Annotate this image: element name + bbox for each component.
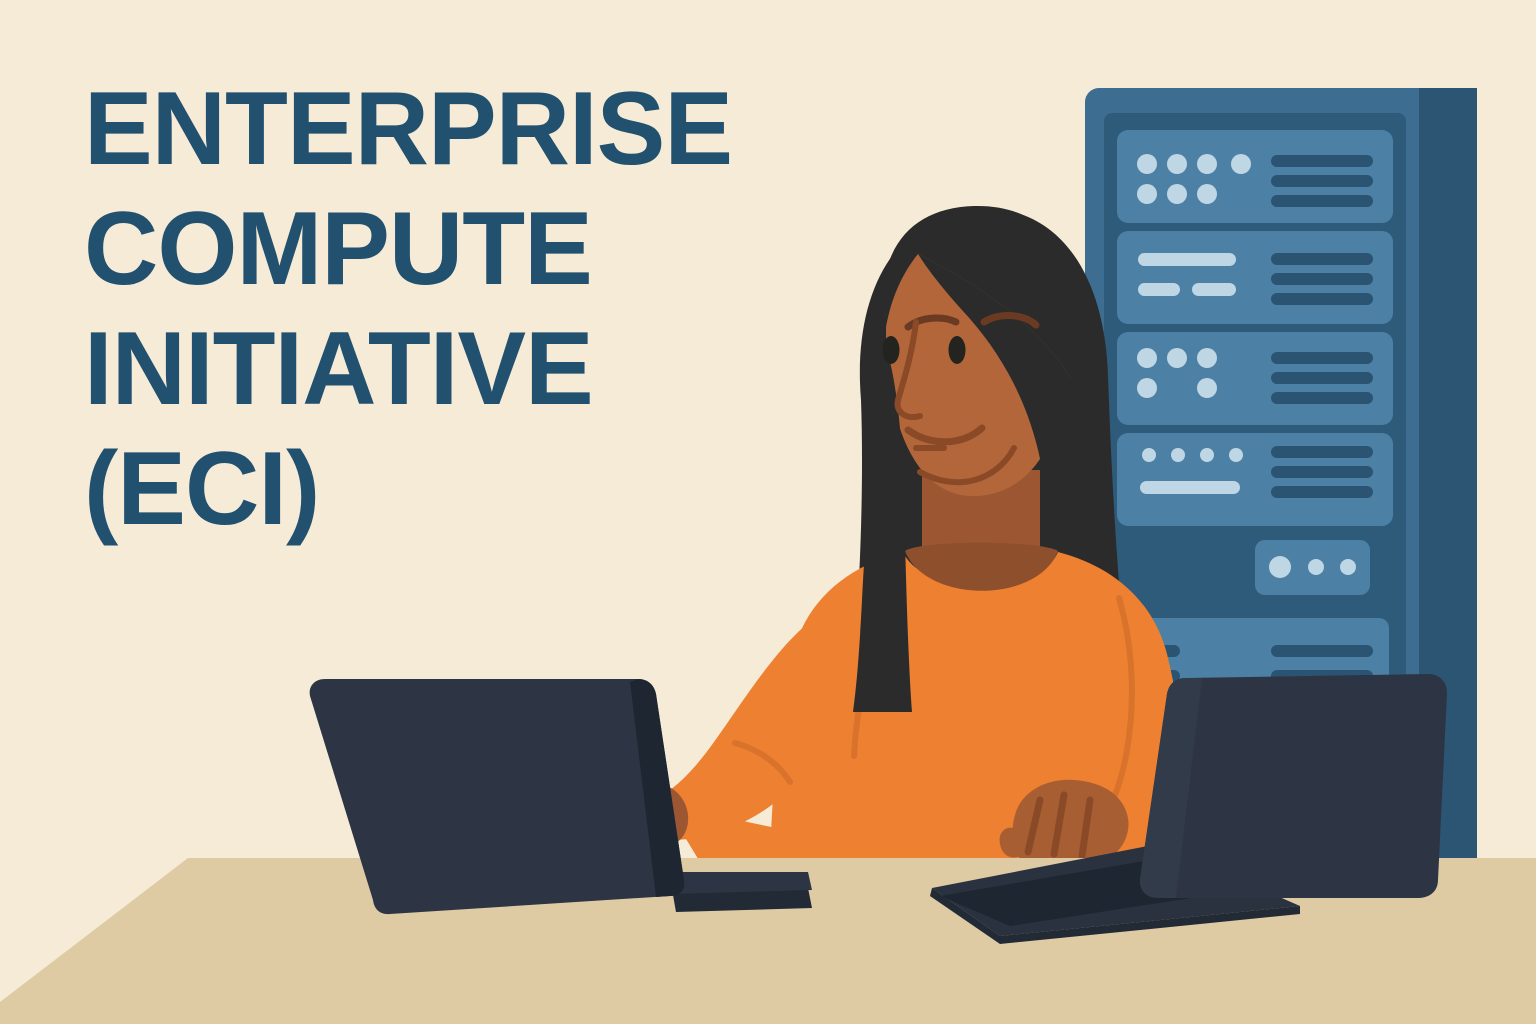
- rack-unit-1: [1117, 130, 1393, 223]
- rack-unit-3-bars: [1271, 352, 1373, 404]
- rack-unit-4: [1117, 433, 1393, 526]
- right-eye: [949, 336, 966, 364]
- rack-unit-5: [1255, 540, 1370, 595]
- left-eye: [883, 336, 900, 364]
- rack-unit-4-light-bar: [1140, 481, 1240, 494]
- rack-unit-4-bars: [1271, 446, 1373, 498]
- rack-unit-2-bars: [1271, 253, 1373, 305]
- rack-unit-2: [1117, 231, 1393, 324]
- scene-artwork: [0, 0, 1536, 1024]
- illustration-canvas: ENTERPRISE COMPUTE INITIATIVE (ECI): [0, 0, 1536, 1024]
- rack-unit-1-bars: [1271, 155, 1373, 207]
- rack-side-panel-cap: [1455, 88, 1477, 860]
- rack-unit-3: [1117, 332, 1393, 425]
